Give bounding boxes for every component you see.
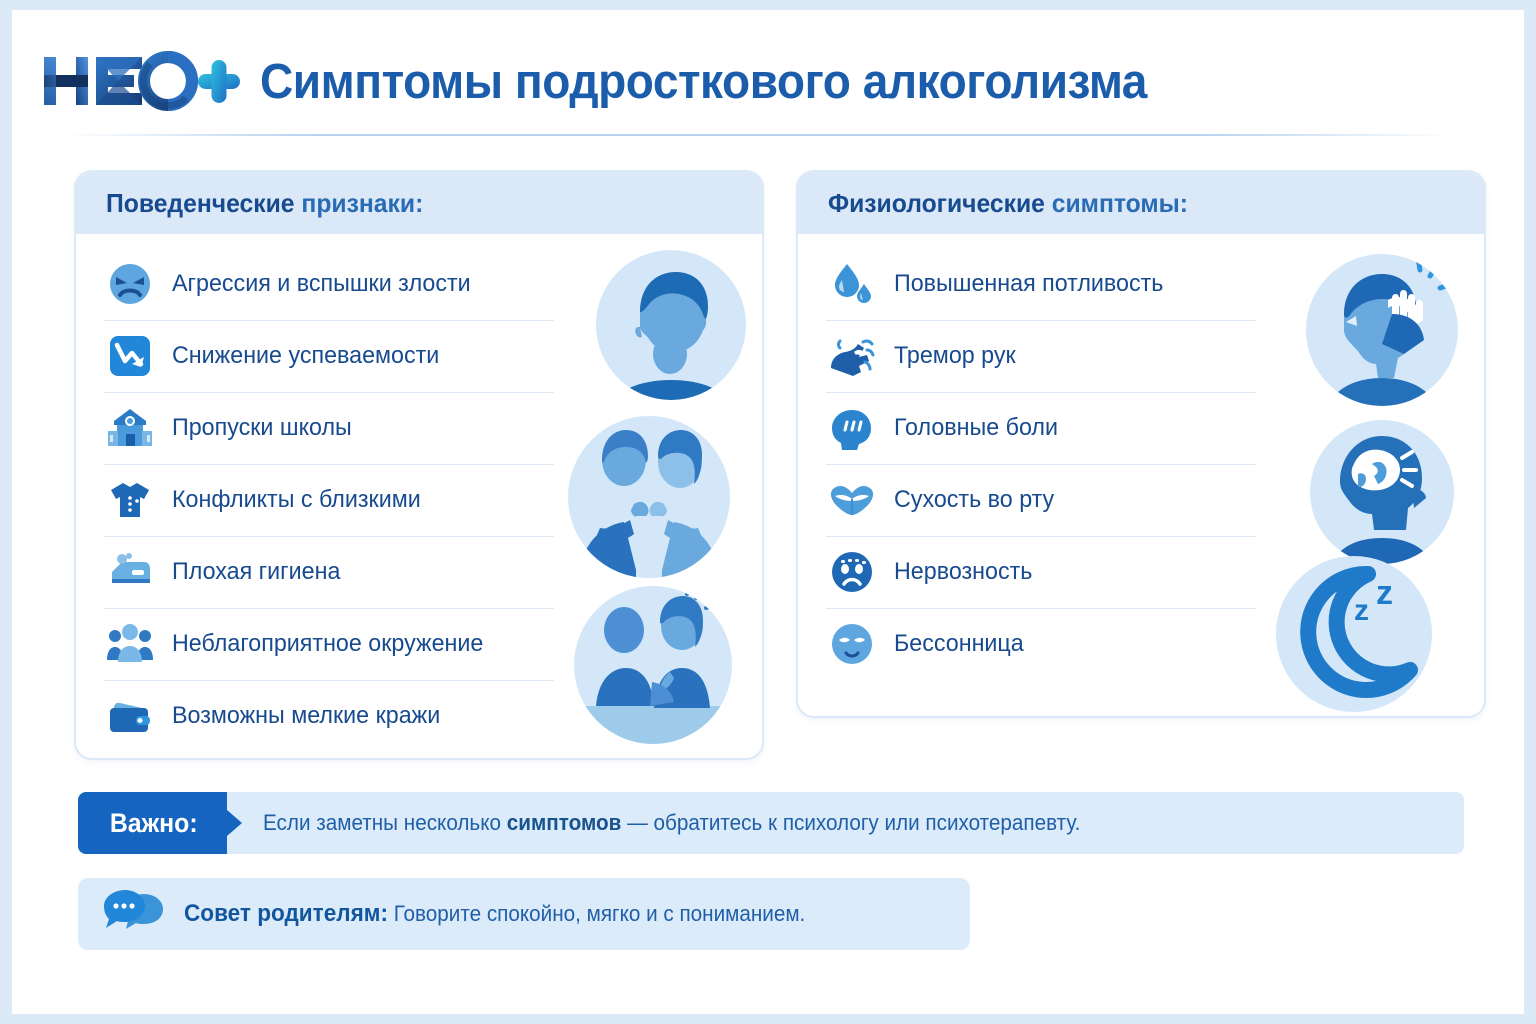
list-item[interactable]: Плохая гигиена [104, 536, 762, 608]
list-item-label: Бессонница [894, 630, 1024, 658]
declining-chart-icon [104, 330, 156, 382]
behavioral-panel-header: Поведенческие признаки: [76, 172, 762, 234]
list-item-label: Нервозность [894, 558, 1032, 586]
behavioral-panel-title: Поведенческие признаки: [106, 188, 423, 219]
list-item[interactable]: Бессонница [826, 608, 1484, 680]
chat-bubble-icon [104, 888, 166, 940]
behavioral-symptom-list: Агрессия и вспышки злости Снижение успев… [104, 248, 762, 752]
list-item[interactable]: Тремор рук [826, 320, 1484, 392]
behavioral-panel-body: Агрессия и вспышки злости Снижение успев… [76, 234, 762, 758]
water-drops-icon [826, 258, 878, 310]
important-badge-label: Важно: [110, 808, 198, 839]
important-note: Важно: Если заметны несколько симптомов … [78, 792, 1464, 854]
physiological-symptom-list: Повышенная потливость [826, 248, 1484, 680]
worried-face-icon [826, 546, 878, 598]
list-item[interactable]: Конфликты с близкими [104, 464, 762, 536]
list-item[interactable]: Сухость во рту [826, 464, 1484, 536]
physiological-panel-title: Физиологические симптомы: [828, 188, 1188, 219]
shaking-hand-icon [826, 330, 878, 382]
header: Симптомы подросткового алкоголизма [42, 32, 1462, 132]
physiological-panel-body: z z [798, 234, 1484, 716]
group-people-icon [104, 618, 156, 670]
list-item-label: Повышенная потливость [894, 270, 1163, 298]
neo-plus-logo [42, 51, 242, 113]
important-badge: Важно: [78, 792, 227, 854]
list-item-label: Головные боли [894, 414, 1058, 442]
physiological-panel-header: Физиологические симптомы: [798, 172, 1484, 234]
page-title: Симптомы подросткового алкоголизма [260, 54, 1147, 110]
lips-icon [826, 474, 878, 526]
list-item-label: Конфликты с близкими [172, 486, 421, 514]
list-item[interactable]: Повышенная потливость [826, 248, 1484, 320]
list-item-label: Неблагоприятное окружение [172, 630, 483, 658]
wallet-icon [104, 690, 156, 742]
list-item-label: Возможны мелкие кражи [172, 702, 440, 730]
list-item[interactable]: Неблагоприятное окружение [104, 608, 762, 680]
list-item[interactable]: Нервозность [826, 536, 1484, 608]
tshirt-icon [104, 474, 156, 526]
soap-bar-icon [104, 546, 156, 598]
panels-container: Поведенческие признаки: [74, 170, 1486, 760]
list-item[interactable]: Снижение успеваемости [104, 320, 762, 392]
sleepy-face-icon [826, 618, 878, 670]
school-building-icon [104, 402, 156, 454]
head-profile-icon [826, 402, 878, 454]
infographic-page: Симптомы подросткового алкоголизма Повед… [12, 10, 1524, 1014]
list-item[interactable]: Головные боли [826, 392, 1484, 464]
list-item-label: Агрессия и вспышки злости [172, 270, 471, 298]
list-item[interactable]: Пропуски школы [104, 392, 762, 464]
behavioral-panel: Поведенческие признаки: [74, 170, 764, 760]
list-item-label: Плохая гигиена [172, 558, 340, 586]
physiological-panel: Физиологические симптомы: [796, 170, 1486, 718]
list-item-label: Сухость во рту [894, 486, 1054, 514]
parents-advice-text: Совет родителям: Говорите спокойно, мягк… [184, 900, 805, 928]
list-item-label: Тремор рук [894, 342, 1016, 370]
important-note-text: Если заметны несколько симптомов — обрат… [263, 810, 1080, 836]
list-item-label: Снижение успеваемости [172, 342, 439, 370]
header-divider [60, 134, 1454, 136]
list-item[interactable]: Возможны мелкие кражи [104, 680, 762, 752]
list-item-label: Пропуски школы [172, 414, 352, 442]
parents-advice-note: Совет родителям: Говорите спокойно, мягк… [78, 878, 970, 950]
angry-face-icon [104, 258, 156, 310]
list-item[interactable]: Агрессия и вспышки злости [104, 248, 762, 320]
